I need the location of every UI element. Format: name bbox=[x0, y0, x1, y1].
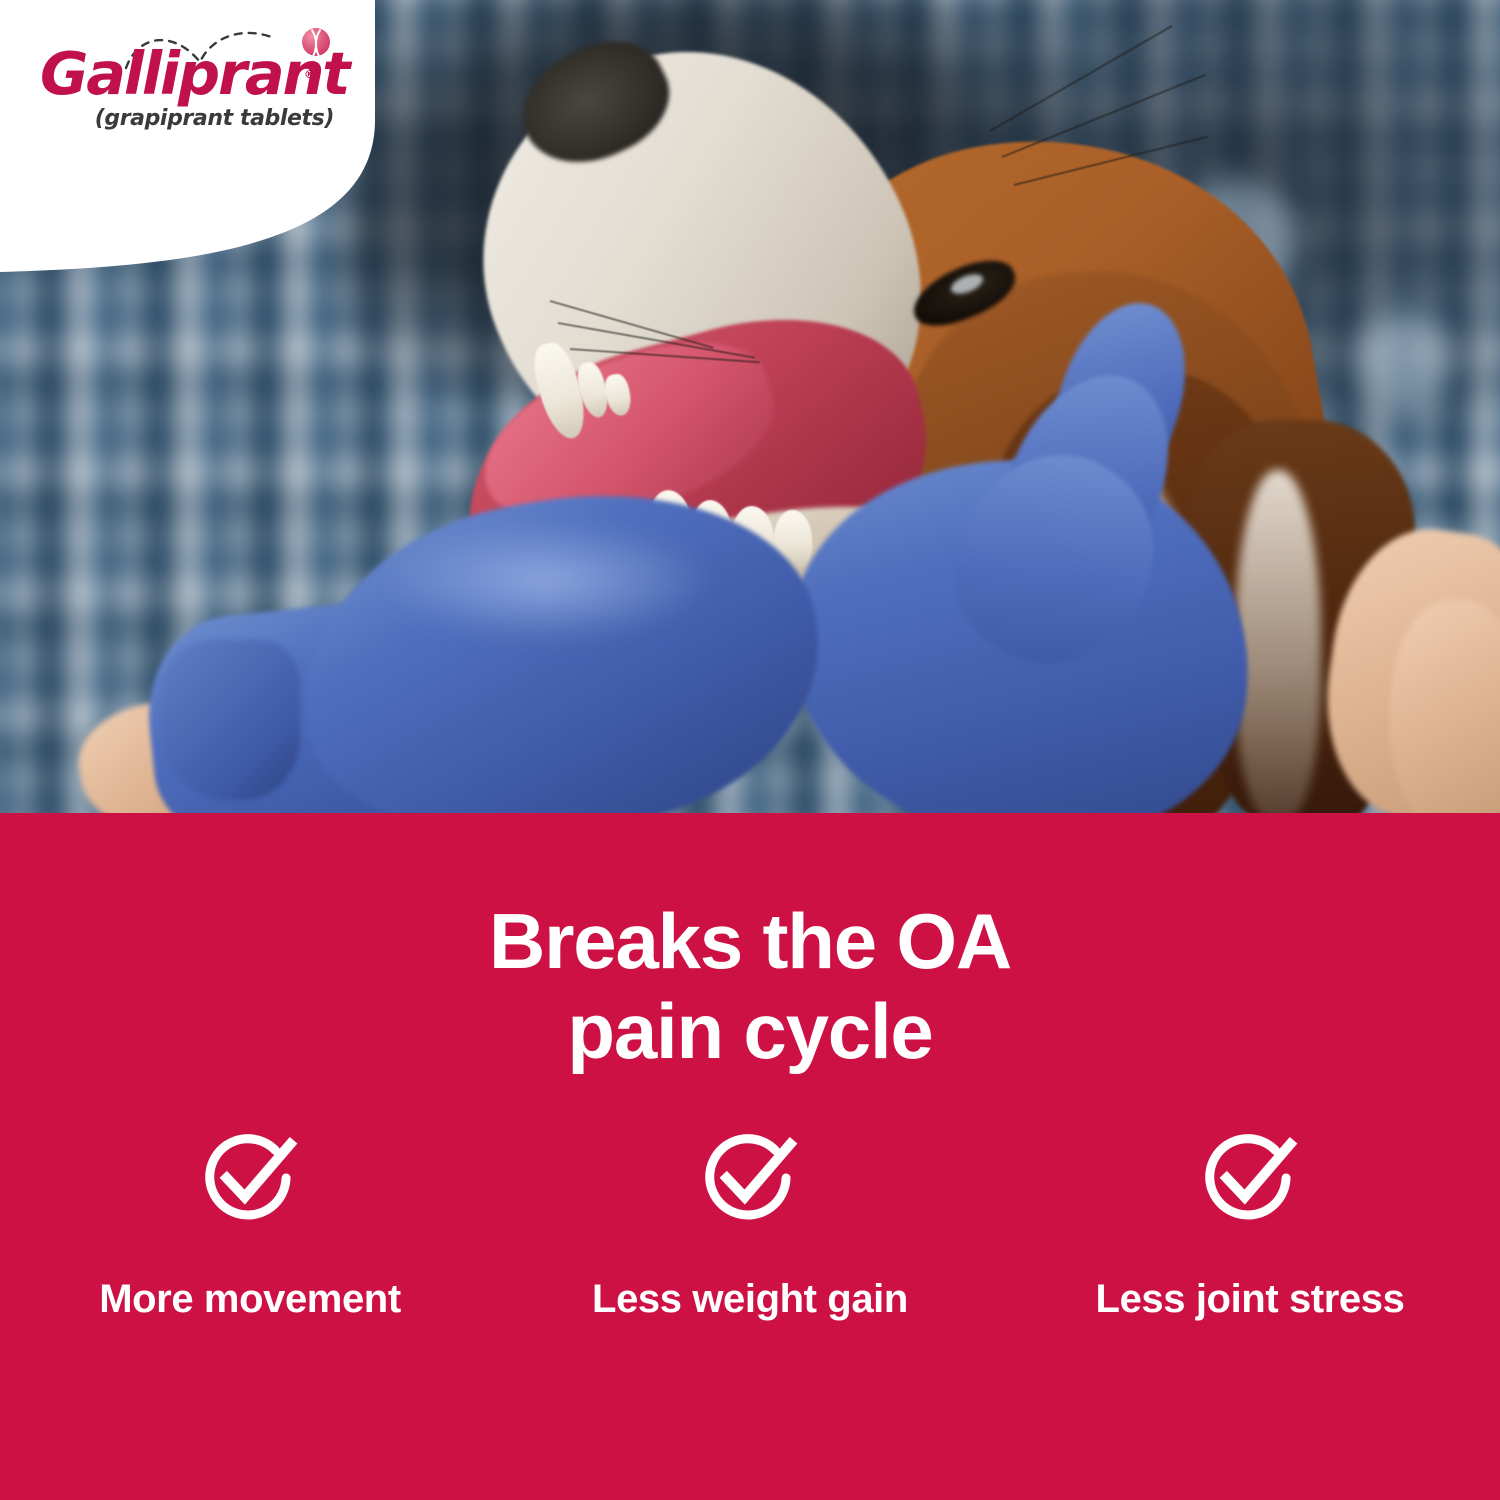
brand-wordmark: Galliprant bbox=[40, 44, 348, 103]
check-circle-icon bbox=[197, 1125, 303, 1231]
registered-trademark-icon: ® bbox=[304, 68, 315, 81]
headline: Breaks the OA pain cycle bbox=[0, 896, 1500, 1077]
feature-list: More movement Less weight gain Less join… bbox=[0, 1125, 1500, 1322]
glove-cuff bbox=[160, 640, 300, 800]
glove-highlight bbox=[380, 520, 710, 640]
message-panel: Breaks the OA pain cycle More movement L… bbox=[0, 813, 1500, 1500]
dog-whisker bbox=[990, 25, 1173, 132]
check-circle-icon bbox=[1197, 1125, 1303, 1231]
feature-item-less-joint-stress: Less joint stress bbox=[1040, 1125, 1460, 1322]
headline-line-1: Breaks the OA bbox=[0, 896, 1500, 986]
feature-label: Less weight gain bbox=[592, 1277, 908, 1322]
headline-line-2: pain cycle bbox=[0, 986, 1500, 1076]
vet-finger-skin-right bbox=[1390, 600, 1500, 813]
check-circle-icon bbox=[697, 1125, 803, 1231]
brand-subtitle: (grapiprant tablets) bbox=[95, 106, 334, 131]
feature-label: Less joint stress bbox=[1096, 1277, 1405, 1322]
feature-item-more-movement: More movement bbox=[40, 1125, 460, 1322]
brand-logo: Galliprant ® (grapiprant tablets) bbox=[40, 34, 340, 159]
feature-label: More movement bbox=[99, 1277, 401, 1322]
feature-item-less-weight-gain: Less weight gain bbox=[540, 1125, 960, 1322]
galliprant-ad-creative: Galliprant ® (grapiprant tablets) Breaks… bbox=[0, 0, 1500, 1500]
dog-chest-white bbox=[1235, 470, 1321, 813]
